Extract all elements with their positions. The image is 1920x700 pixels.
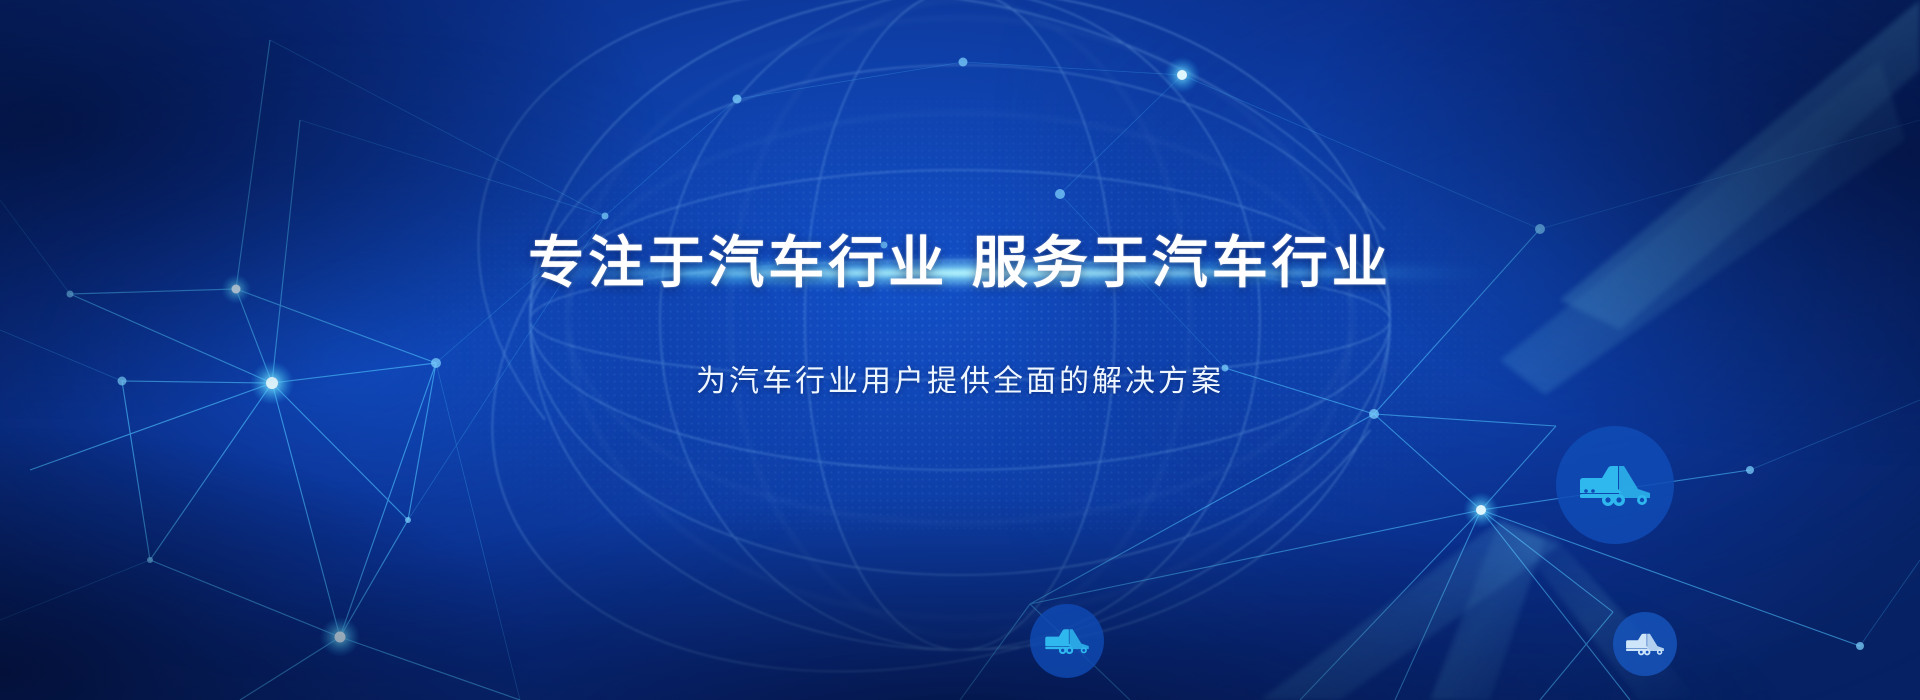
- hero-subheadline: 为汽车行业用户提供全面的解决方案: [696, 356, 1224, 400]
- hero-banner: 专注于汽车行业 服务于汽车行业 为汽车行业用户提供全面的解决方案: [0, 0, 1920, 700]
- hero-headline: 专注于汽车行业 服务于汽车行业: [528, 232, 1392, 296]
- hero-text-block: 专注于汽车行业 服务于汽车行业 为汽车行业用户提供全面的解决方案: [0, 0, 1920, 700]
